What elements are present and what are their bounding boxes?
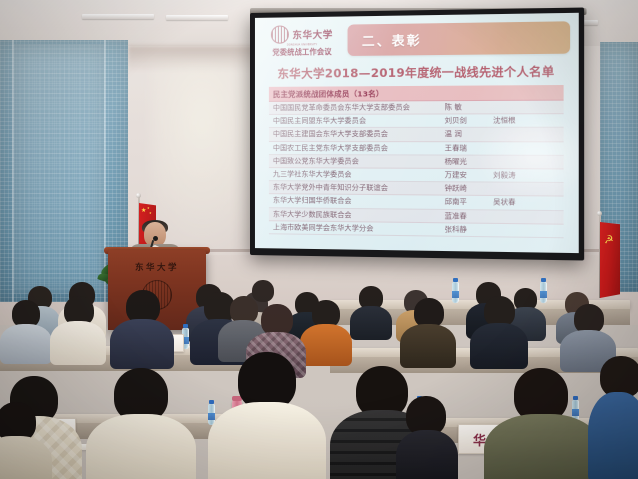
row-name-secondary: 吴状春 xyxy=(493,197,542,208)
conference-hall-photo: 东华大学 DONGHUA UNIVERSITY 党委统战工作会议 二、表彰 东华… xyxy=(0,0,638,479)
row-name-primary: 刘贝剑 xyxy=(445,116,493,126)
audience-member xyxy=(350,286,392,338)
row-name-primary: 陈 敏 xyxy=(445,102,493,112)
meeting-title: 党委统战工作会议 xyxy=(263,47,342,58)
row-organization: 中国国民党革命委员会东华大学支部委员会 xyxy=(273,102,445,113)
table-row: 上海市欧美同学会东华大学分会张科静 xyxy=(269,221,564,238)
row-name-secondary: 沈恒根 xyxy=(493,116,542,126)
audience-member xyxy=(86,368,196,479)
row-organization: 九三学社东华大学委员会 xyxy=(273,169,445,180)
section-banner-text: 二、表彰 xyxy=(348,30,422,50)
panel-seam xyxy=(12,40,14,302)
row-name-primary: 万建安 xyxy=(445,170,493,181)
microphone-icon xyxy=(153,236,158,241)
row-name-primary: 蓝准春 xyxy=(445,211,493,222)
row-organization: 中国民主同盟东华大学委员会 xyxy=(273,116,445,126)
row-name-primary: 邱南平 xyxy=(445,197,493,208)
row-organization: 中国民主建国会东华大学支部委员会 xyxy=(273,129,445,139)
row-organization: 上海市欧美同学会东华大学分会 xyxy=(273,222,445,234)
row-name-secondary xyxy=(493,216,542,217)
row-name-primary: 温 润 xyxy=(445,129,493,139)
audience-member xyxy=(396,396,458,479)
row-organization: 东华大学党外中青年知识分子联谊会 xyxy=(273,182,445,193)
section-banner: 二、表彰 xyxy=(348,21,571,56)
table-row: 中国致公党东华大学委员会杨曜光 xyxy=(269,155,564,170)
communist-party-flag: ☭ xyxy=(600,222,620,298)
university-seal-icon xyxy=(271,25,289,43)
presentation-slide: 东华大学 DONGHUA UNIVERSITY 党委统战工作会议 二、表彰 东华… xyxy=(255,13,579,253)
flag-star-icon: ★ xyxy=(149,210,152,216)
slide-header: 东华大学 DONGHUA UNIVERSITY 党委统战工作会议 二、表彰 xyxy=(263,19,570,58)
table-body: 中国国民党革命委员会东华大学支部委员会陈 敏中国民主同盟东华大学委员会刘贝剑沈恒… xyxy=(269,101,564,239)
row-organization: 东华大学归国华侨联合会 xyxy=(273,196,445,208)
row-organization: 中国致公党东华大学委员会 xyxy=(273,156,445,167)
audience-member xyxy=(50,296,106,364)
projection-screen: 东华大学 DONGHUA UNIVERSITY 党委统战工作会议 二、表彰 东华… xyxy=(255,13,579,253)
table-row: 中国民主建国会东华大学支部委员会温 润 xyxy=(269,128,564,142)
row-organization: 东华大学少数民族联合会 xyxy=(273,209,445,221)
university-name-cn: 东华大学 xyxy=(292,27,332,42)
ceiling-light-icon xyxy=(166,15,228,20)
acoustic-panel-left-inner xyxy=(14,44,104,294)
flag-star-icon: ★ xyxy=(141,208,146,214)
audience-member xyxy=(484,368,602,479)
audience-member xyxy=(110,290,174,366)
audience-member xyxy=(208,352,326,479)
audience-member xyxy=(470,296,528,366)
row-name-primary: 张科静 xyxy=(445,224,493,235)
row-name-primary: 钟跃崎 xyxy=(445,183,493,194)
table-row: 中国农工民主党东华大学支部委员会王春瑞 xyxy=(269,142,564,156)
audience-member xyxy=(0,300,52,362)
audience-member xyxy=(588,356,638,479)
university-brand: 东华大学 DONGHUA UNIVERSITY 党委统战工作会议 xyxy=(263,23,342,58)
slide-title: 东华大学2018—2019年度统一战线先进个人名单 xyxy=(263,63,570,82)
ceiling-light-icon xyxy=(82,14,154,19)
hammer-sickle-icon: ☭ xyxy=(603,233,616,248)
projection-screen-frame: 东华大学 DONGHUA UNIVERSITY 党委统战工作会议 二、表彰 东华… xyxy=(250,7,584,260)
flagpole-knob xyxy=(597,211,602,216)
table-row: 中国国民党革命委员会东华大学支部委员会陈 敏 xyxy=(269,101,564,116)
row-name-primary: 杨曜光 xyxy=(445,156,493,166)
table-row: 中国民主同盟东华大学委员会刘贝剑沈恒根 xyxy=(269,114,564,128)
row-organization: 中国农工民主党东华大学支部委员会 xyxy=(273,143,445,153)
podium-engraving: 东华大学 xyxy=(108,261,206,273)
flagpole-knob xyxy=(136,193,141,198)
row-name-primary: 王春瑞 xyxy=(445,143,493,153)
table-group-header: 民主党派统战团体成员（13名） xyxy=(269,85,564,102)
audience-member xyxy=(0,402,52,479)
row-name-secondary xyxy=(493,230,542,231)
row-name-secondary: 刘毅涛 xyxy=(493,170,542,181)
honoree-table: 民主党派统战团体成员（13名） 中国国民党革命委员会东华大学支部委员会陈 敏中国… xyxy=(269,85,564,238)
audience-member xyxy=(400,298,456,366)
